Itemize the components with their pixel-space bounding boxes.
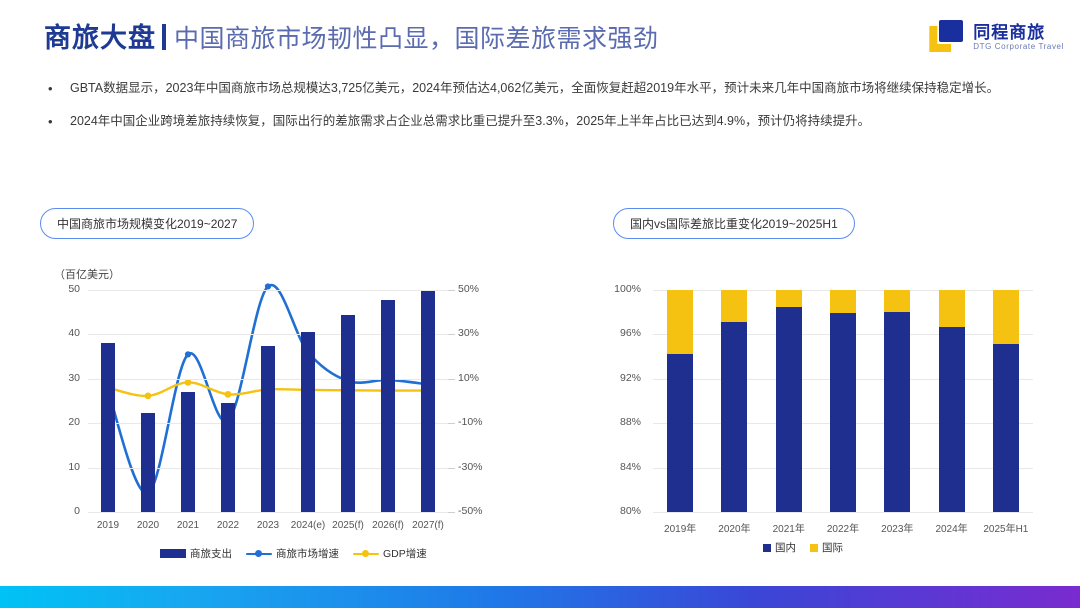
legend-label: GDP增速 bbox=[383, 546, 427, 561]
legend-item-domestic: 国内 bbox=[763, 540, 796, 555]
y-axis-tick-label: 100% bbox=[595, 283, 641, 295]
bar-expenditure bbox=[381, 300, 395, 512]
y-axis-tick-label: 88% bbox=[595, 416, 641, 428]
x-axis-tick-label: 2025年H1 bbox=[971, 520, 1041, 535]
list-item: • 2024年中国企业跨境差旅持续恢复，国际出行的差旅需求占企业总需求比重已提升… bbox=[44, 111, 1038, 134]
chart-panel-domestic-international: 国内vs国际差旅比重变化2019~2025H1 80%84%88%92%96%1… bbox=[595, 208, 1055, 568]
bar-segment-international bbox=[993, 290, 1019, 344]
y2-axis-tick-label: -50% bbox=[458, 505, 483, 517]
chart-legend-market-size: 商旅支出 商旅市场增速 GDP增速 bbox=[160, 546, 427, 561]
bar-segment-international bbox=[830, 290, 856, 313]
chart-title-domestic-international: 国内vs国际差旅比重变化2019~2025H1 bbox=[613, 208, 855, 239]
bar-expenditure bbox=[341, 315, 355, 512]
chart-legend-domestic-international: 国内 国际 bbox=[763, 540, 843, 555]
page-title: 商旅大盘 bbox=[44, 16, 156, 55]
y2-axis-tick-label: -30% bbox=[458, 461, 483, 473]
y2-axis-tick-label: -10% bbox=[458, 416, 483, 428]
gridline bbox=[88, 290, 448, 291]
bar-expenditure bbox=[101, 343, 115, 512]
legend-swatch-domestic-icon bbox=[763, 544, 771, 552]
legend-item-international: 国际 bbox=[810, 540, 843, 555]
bar-segment-domestic bbox=[721, 322, 747, 512]
legend-label: 商旅支出 bbox=[190, 546, 232, 561]
legend-line-gold-icon bbox=[353, 549, 379, 558]
chart-title-market-size: 中国商旅市场规模变化2019~2027 bbox=[40, 208, 254, 239]
y2-axis-tick-mark bbox=[448, 423, 455, 424]
bullet-text: 2024年中国企业跨境差旅持续恢复，国际出行的差旅需求占企业总需求比重已提升至3… bbox=[70, 111, 1038, 134]
y-axis-tick-label: 50 bbox=[40, 283, 80, 295]
logo-name-en: DTG Corporate Travel bbox=[973, 43, 1064, 51]
legend-swatch-international-icon bbox=[810, 544, 818, 552]
line-data-point bbox=[145, 392, 152, 399]
logo-mark-icon bbox=[929, 20, 967, 54]
bar-expenditure bbox=[261, 346, 275, 512]
line-data-point bbox=[185, 379, 192, 386]
chart-panel-market-size: 中国商旅市场规模变化2019~2027 （百亿美元） 01020304050 -… bbox=[40, 208, 530, 568]
line-data-point bbox=[185, 351, 191, 357]
bullet-list: • GBTA数据显示，2023年中国商旅市场总规模达3,725亿美元，2024年… bbox=[44, 78, 1038, 144]
plot-area-domestic-international bbox=[653, 290, 1033, 512]
y-axis-unit-label: （百亿美元） bbox=[54, 266, 120, 282]
bar-segment-domestic bbox=[830, 313, 856, 512]
y2-axis-tick-mark bbox=[448, 468, 455, 469]
bar-segment-international bbox=[721, 290, 747, 322]
line-data-point bbox=[225, 391, 232, 398]
line-data-point bbox=[265, 283, 271, 289]
bar-segment-domestic bbox=[776, 307, 802, 512]
logo-text: 同程商旅 DTG Corporate Travel bbox=[973, 24, 1064, 51]
y-axis-tick-label: 30 bbox=[40, 372, 80, 384]
y-axis-tick-label: 84% bbox=[595, 461, 641, 473]
y-axis-tick-label: 0 bbox=[40, 505, 80, 517]
legend-label: 国内 bbox=[775, 540, 796, 555]
y-axis-tick-label: 92% bbox=[595, 372, 641, 384]
gridline bbox=[653, 512, 1033, 513]
bar-segment-international bbox=[939, 290, 965, 327]
bullet-marker-icon: • bbox=[44, 78, 70, 101]
title-divider-icon bbox=[162, 24, 166, 50]
y2-axis-tick-mark bbox=[448, 379, 455, 380]
bar-segment-domestic bbox=[884, 312, 910, 512]
bar-expenditure bbox=[421, 291, 435, 512]
y2-axis-tick-mark bbox=[448, 290, 455, 291]
bar-expenditure bbox=[221, 403, 235, 512]
y2-axis-tick-label: 10% bbox=[458, 372, 479, 384]
legend-swatch-bar-icon bbox=[160, 549, 186, 558]
bar-segment-international bbox=[776, 290, 802, 307]
legend-item-gdp-growth: GDP增速 bbox=[353, 546, 427, 561]
y-axis-tick-label: 80% bbox=[595, 505, 641, 517]
legend-item-market-growth: 商旅市场增速 bbox=[246, 546, 339, 561]
bar-segment-domestic bbox=[939, 327, 965, 512]
bar-segment-international bbox=[667, 290, 693, 354]
slide: 商旅大盘 中国商旅市场韧性凸显，国际差旅需求强劲 同程商旅 DTG Corpor… bbox=[0, 0, 1080, 608]
bar-segment-international bbox=[884, 290, 910, 312]
y-axis-tick-label: 20 bbox=[40, 416, 80, 428]
page-header: 商旅大盘 中国商旅市场韧性凸显，国际差旅需求强劲 bbox=[44, 16, 659, 55]
bar-expenditure bbox=[181, 392, 195, 512]
logo-square-icon bbox=[939, 20, 963, 42]
y-axis-tick-label: 40 bbox=[40, 327, 80, 339]
brand-logo: 同程商旅 DTG Corporate Travel bbox=[929, 20, 1064, 54]
page-subtitle: 中国商旅市场韧性凸显，国际差旅需求强劲 bbox=[174, 19, 659, 55]
y2-axis-tick-label: 30% bbox=[458, 327, 479, 339]
legend-item-expenditure: 商旅支出 bbox=[160, 546, 232, 561]
footer-gradient-bar bbox=[0, 586, 1080, 608]
list-item: • GBTA数据显示，2023年中国商旅市场总规模达3,725亿美元，2024年… bbox=[44, 78, 1038, 101]
bullet-text: GBTA数据显示，2023年中国商旅市场总规模达3,725亿美元，2024年预估… bbox=[70, 78, 1038, 101]
y-axis-tick-label: 10 bbox=[40, 461, 80, 473]
bullet-marker-icon: • bbox=[44, 111, 70, 134]
plot-area-market-size bbox=[88, 290, 448, 512]
legend-line-blue-icon bbox=[246, 549, 272, 558]
y2-axis-tick-label: 50% bbox=[458, 283, 479, 295]
y-axis-tick-label: 96% bbox=[595, 327, 641, 339]
y2-axis-tick-mark bbox=[448, 512, 455, 513]
bar-expenditure bbox=[141, 413, 155, 512]
legend-label: 国际 bbox=[822, 540, 843, 555]
gridline bbox=[88, 512, 448, 513]
legend-label: 商旅市场增速 bbox=[276, 546, 339, 561]
x-axis-tick-label: 2027(f) bbox=[398, 520, 458, 531]
logo-name-cn: 同程商旅 bbox=[973, 24, 1064, 41]
bar-expenditure bbox=[301, 332, 315, 512]
y2-axis-tick-mark bbox=[448, 334, 455, 335]
bar-segment-domestic bbox=[993, 344, 1019, 512]
bar-segment-domestic bbox=[667, 354, 693, 512]
